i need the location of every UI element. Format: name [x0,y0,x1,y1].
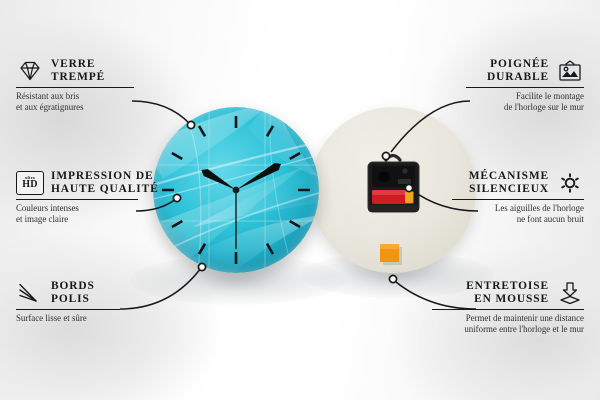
infographic-canvas: VERRE TREMPÉ Résistant aux bris et aux é… [0,0,600,400]
feature-rule [466,87,584,88]
marker-entretoise [389,275,396,282]
foam-spacer-icon [556,281,584,305]
feature-titles: MÉCANISME SILENCIEUX [469,170,549,196]
feature-head: MÉCANISME SILENCIEUX [452,170,584,196]
feature-sub-line1: Les aiguilles de l'horloge [452,203,584,215]
feature-verre-trempe: VERRE TREMPÉ Résistant aux bris et aux é… [16,58,134,114]
feature-rule [16,199,138,200]
feature-titles: POIGNÉE DURABLE [487,58,549,84]
feature-titles: IMPRESSION DE HAUTE QUALITÉ [51,170,159,196]
feature-entretoise-mousse: ENTRETOISE EN MOUSSE Permet de maintenir… [432,280,584,336]
feature-head: POIGNÉE DURABLE [466,58,584,84]
feature-sub-line1: Surface lisse et sûre [16,313,120,325]
ultra-hd-icon: ultra HD [16,171,44,195]
feature-sub-line2: et image claire [16,214,138,226]
marker-verre-trempe [187,121,194,128]
feature-impression-hd: ultra HD IMPRESSION DE HAUTE QUALITÉ Cou… [16,170,138,226]
feature-title-line2: HAUTE QUALITÉ [51,183,159,196]
feature-titles: ENTRETOISE EN MOUSSE [466,280,549,306]
feature-title-line2: TREMPÉ [51,71,105,84]
feature-bords-polis: BORDS POLIS Surface lisse et sûre [16,280,120,324]
feature-sub-line1: Couleurs intenses [16,203,138,215]
marker-impression-hd [173,194,180,201]
feature-title-line1: POIGNÉE [490,58,549,71]
feature-head: ENTRETOISE EN MOUSSE [432,280,584,306]
feature-title-line2: EN MOUSSE [474,293,549,306]
polished-edges-icon [16,281,44,305]
feature-title-line1: BORDS [51,280,95,293]
feature-head: BORDS POLIS [16,280,120,306]
feature-sub-line2: uniforme entre l'horloge et le mur [432,324,584,336]
feature-titles: VERRE TREMPÉ [51,58,105,84]
feature-title-line1: IMPRESSION DE [51,170,154,183]
connector-bords-polis [120,268,201,309]
feature-sub-line1: Permet de maintenir une distance [432,313,584,325]
connector-poignee [391,101,470,152]
feature-title-line1: ENTRETOISE [466,280,549,293]
feature-sub-line1: Facilite le montage [466,91,584,103]
feature-title-line1: MÉCANISME [469,170,549,183]
marker-poignee [382,152,389,159]
gear-icon [556,171,584,195]
connector-impression-hd [136,199,176,211]
diamond-icon [16,59,44,83]
feature-mecanisme-silencieux: MÉCANISME SILENCIEUX Les aiguilles de l'… [452,170,584,226]
feature-rule [432,309,584,310]
feature-head: ultra HD IMPRESSION DE HAUTE QUALITÉ [16,170,138,196]
feature-title-line2: POLIS [51,293,90,306]
ultra-hd-large-text: HD [22,180,37,190]
connector-verre-trempe [132,101,190,124]
feature-rule [16,87,134,88]
feature-titles: BORDS POLIS [51,280,95,306]
feature-sub-line2: de l'horloge sur le mur [466,102,584,114]
feature-sub-line2: et aux égratignures [16,102,134,114]
feature-sub-line2: ne font aucun bruit [452,214,584,226]
picture-hanger-icon [556,59,584,83]
feature-title-line2: SILENCIEUX [469,183,549,196]
marker-mecanisme [405,184,412,191]
feature-rule [16,309,120,310]
feature-sub-line1: Résistant aux bris [16,91,134,103]
feature-rule [452,199,584,200]
feature-title-line1: VERRE [51,58,95,71]
feature-title-line2: DURABLE [487,71,549,84]
feature-poignee-durable: POIGNÉE DURABLE Facilite le montage de l… [466,58,584,114]
feature-head: VERRE TREMPÉ [16,58,134,84]
marker-bords-polis [198,263,205,270]
